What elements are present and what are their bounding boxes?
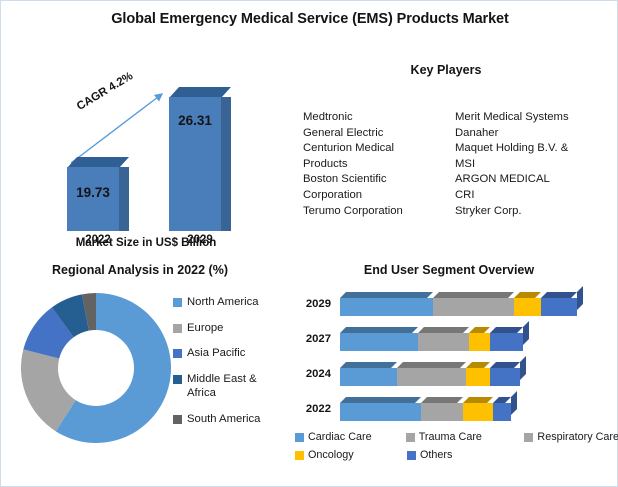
end-user-legend-label: Oncology — [308, 449, 354, 461]
segment-front-face — [433, 298, 514, 316]
segment-front-face — [514, 298, 541, 316]
segment-front-face — [340, 333, 418, 351]
end-user-bar-row: 2024 — [289, 357, 618, 392]
end-user-title: End User Segment Overview — [289, 263, 609, 277]
end-user-bar-segment — [466, 368, 490, 386]
segment-side-shade — [511, 391, 517, 415]
legend-swatch-icon — [173, 298, 182, 307]
regional-legend-label: Asia Pacific — [187, 346, 245, 361]
legend-swatch-icon — [524, 433, 533, 442]
end-user-bar-row: 2029 — [289, 287, 618, 322]
segment-side-face — [511, 391, 517, 415]
segment-side-shade — [523, 321, 529, 345]
end-user-legend-row: Cardiac CareTrauma CareRespiratory Care — [289, 431, 618, 443]
end-user-legend-label: Trauma Care — [419, 431, 482, 443]
legend-swatch-icon — [406, 433, 415, 442]
end-user-legend-item[interactable]: Cardiac Care — [295, 431, 406, 443]
regional-legend-item[interactable]: South America — [173, 412, 291, 427]
infographic-page: Global Emergency Medical Service (EMS) P… — [0, 0, 618, 487]
segment-front-face — [466, 368, 490, 386]
segment-front-face — [463, 403, 493, 421]
end-user-year-label: 2022 — [291, 403, 331, 415]
key-players-columns: Medtronic General Electric Centurion Med… — [301, 110, 618, 219]
regional-legend-label: South America — [187, 412, 260, 427]
bar-2029: 26.31 — [169, 87, 231, 231]
end-user-bar-segment — [541, 298, 577, 316]
end-user-bar-segment — [340, 368, 397, 386]
regional-legend-label: North America — [187, 295, 259, 310]
end-user-legend-item[interactable]: Trauma Care — [406, 431, 525, 443]
segment-front-face — [418, 333, 469, 351]
end-user-year-label: 2027 — [291, 333, 331, 345]
legend-swatch-icon — [173, 324, 182, 333]
key-players-column-left: Medtronic General Electric Centurion Med… — [303, 110, 455, 219]
bar-2029-value: 26.31 — [169, 113, 221, 128]
end-user-bar-row: 2027 — [289, 322, 618, 357]
segment-side-shade — [520, 356, 526, 380]
segment-front-face — [340, 368, 397, 386]
market-size-subtitle: Market Size in US$ Billion — [1, 237, 291, 249]
end-user-legend-label: Others — [420, 449, 452, 461]
legend-swatch-icon — [295, 433, 304, 442]
legend-swatch-icon — [407, 451, 416, 460]
end-user-bar-row: 2022 — [289, 392, 618, 427]
end-user-bar-segment — [340, 298, 433, 316]
regional-legend-item[interactable]: Asia Pacific — [173, 346, 291, 361]
end-user-bar-segment — [340, 333, 418, 351]
end-user-segment-chart: End User Segment Overview 20292027202420… — [289, 263, 618, 487]
segment-side-face — [523, 321, 529, 345]
segment-side-face — [520, 356, 526, 380]
end-user-bar-segment — [397, 368, 466, 386]
end-user-bar-segment — [490, 333, 523, 351]
legend-swatch-icon — [295, 451, 304, 460]
cagr-arrow-icon — [19, 71, 291, 251]
key-players-section: Key Players Medtronic General Electric C… — [301, 63, 618, 219]
regional-legend-item[interactable]: North America — [173, 295, 291, 310]
end-user-bar-segment — [433, 298, 514, 316]
segment-side-face — [577, 286, 583, 310]
end-user-year-label: 2024 — [291, 368, 331, 380]
segment-front-face — [541, 298, 577, 316]
segment-front-face — [397, 368, 466, 386]
end-user-legend-label: Respiratory Care — [537, 431, 618, 443]
end-user-legend: Cardiac CareTrauma CareRespiratory CareO… — [289, 431, 618, 467]
segment-front-face — [340, 403, 421, 421]
regional-legend-label: Europe — [187, 321, 223, 336]
page-title: Global Emergency Medical Service (EMS) P… — [1, 9, 618, 30]
bar-2022-side-face — [119, 167, 129, 231]
end-user-bar-segment — [421, 403, 463, 421]
end-user-bars: 2029202720242022 — [289, 287, 618, 427]
donut-svg — [15, 287, 177, 449]
bar-2022-value: 19.73 — [67, 185, 119, 200]
regional-legend-item[interactable]: Europe — [173, 321, 291, 336]
key-players-title: Key Players — [301, 63, 591, 77]
regional-legend-item[interactable]: Middle East & Africa — [173, 372, 291, 401]
segment-front-face — [469, 333, 490, 351]
end-user-bar-segment — [469, 333, 490, 351]
segment-side-shade — [577, 286, 583, 310]
end-user-legend-label: Cardiac Care — [308, 431, 372, 443]
donut-chart — [15, 287, 177, 449]
segment-front-face — [421, 403, 463, 421]
regional-legend: North AmericaEuropeAsia PacificMiddle Ea… — [173, 295, 291, 437]
regional-analysis-chart: Regional Analysis in 2022 (%) North Amer… — [1, 263, 291, 487]
legend-swatch-icon — [173, 415, 182, 424]
end-user-legend-item[interactable]: Others — [407, 449, 452, 461]
key-players-column-right: Merit Medical Systems Danaher Maquet Hol… — [455, 110, 607, 219]
regional-legend-label: Middle East & Africa — [187, 372, 257, 401]
cagr-label: CAGR 4.2% — [75, 70, 135, 113]
end-user-bar-segment — [490, 368, 520, 386]
legend-swatch-icon — [173, 349, 182, 358]
end-user-legend-item[interactable]: Respiratory Care — [524, 431, 618, 443]
segment-front-face — [340, 298, 433, 316]
bar-2022: 19.73 — [67, 157, 129, 231]
regional-analysis-title: Regional Analysis in 2022 (%) — [1, 263, 279, 277]
market-size-chart: CAGR 4.2% 19.73 26.31 2022 2029 — [19, 71, 291, 251]
segment-front-face — [493, 403, 511, 421]
bar-2029-side-face — [221, 97, 231, 231]
end-user-bar-segment — [463, 403, 493, 421]
end-user-bar-segment — [514, 298, 541, 316]
key-players-list-right: Merit Medical Systems Danaher Maquet Hol… — [455, 110, 607, 219]
end-user-bar-segment — [340, 403, 421, 421]
segment-front-face — [490, 368, 520, 386]
key-players-list-left: Medtronic General Electric Centurion Med… — [303, 110, 455, 219]
legend-swatch-icon — [173, 375, 182, 384]
end-user-bar-segment — [418, 333, 469, 351]
end-user-bar-segment — [493, 403, 511, 421]
end-user-legend-row: OncologyOthers — [289, 449, 618, 461]
end-user-legend-item[interactable]: Oncology — [295, 449, 407, 461]
end-user-year-label: 2029 — [291, 298, 331, 310]
segment-front-face — [490, 333, 523, 351]
